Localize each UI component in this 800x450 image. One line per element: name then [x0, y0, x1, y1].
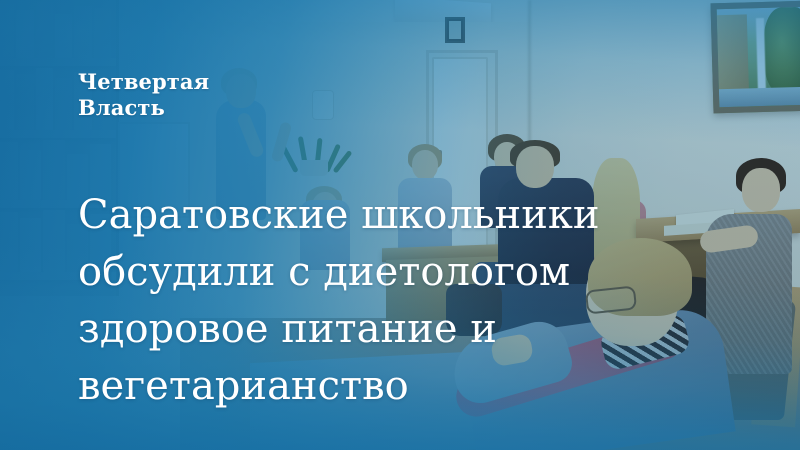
site-logo[interactable]: Четвертая Власть — [78, 69, 209, 121]
article-headline[interactable]: Саратовские школьники обсудили с диетоло… — [78, 187, 738, 415]
article-share-card: Четвертая Власть Саратовские школьники о… — [0, 0, 800, 450]
overlay-content: Четвертая Власть Саратовские школьники о… — [0, 0, 800, 450]
